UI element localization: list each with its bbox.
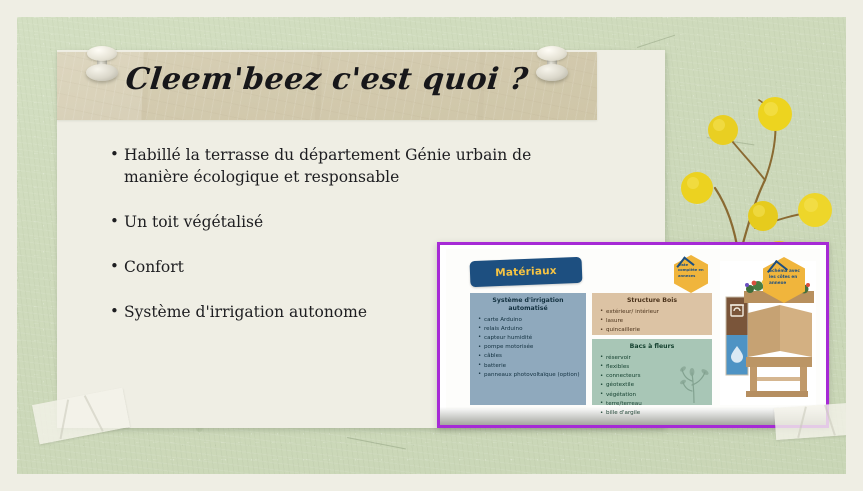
list-item: câbles (484, 352, 581, 361)
column-items: extérieur/ intérieur lasure quincailleri… (597, 308, 707, 336)
pushpin-base (536, 64, 568, 81)
pushpin-head (537, 46, 567, 61)
list-item: extérieur/ intérieur (606, 308, 707, 317)
bullet-marker-icon: • (110, 144, 124, 165)
leaf-decoration-icon (678, 361, 712, 403)
badge-label: Schéma avec les côtes en annexe (769, 268, 801, 286)
materials-title-banner: Matériaux (470, 257, 583, 287)
bullet-marker-icon: • (110, 256, 124, 277)
badge-annex-list: Liste complète en annexes (674, 255, 708, 293)
column-heading: Système d'irrigation automatisé (475, 297, 581, 313)
list-item-label: Habillé la terrasse du département Génie… (124, 144, 580, 188)
badge-label: Liste complète en annexes (678, 263, 705, 279)
materials-title: Matériaux (470, 257, 583, 287)
column-heading: Bacs à fleurs (597, 343, 707, 351)
column-wood-structure: Structure Bois extérieur/ intérieur lasu… (592, 293, 712, 335)
embedded-image-inner: Matériaux Système d'irrigation automatis… (440, 245, 826, 425)
list-item: carte Arduino (484, 316, 581, 325)
list-item: • Habillé la terrasse du département Gén… (110, 144, 580, 188)
tape-crease (84, 395, 103, 431)
bullet-marker-icon: • (110, 301, 124, 322)
list-item: • Un toit végétalisé (110, 211, 580, 233)
pushpin-icon-right (530, 44, 574, 90)
page-title: Cleem'beez c'est quoi ? (55, 62, 599, 97)
column-irrigation: Système d'irrigation automatisé carte Ar… (470, 293, 586, 405)
column-items: carte Arduino relais Arduino capteur hum… (475, 316, 581, 381)
column-heading: Structure Bois (597, 297, 707, 305)
slide-canvas: Cleem'beez c'est quoi ? • Habillé la ter… (0, 0, 863, 491)
tape-crease (824, 405, 835, 436)
list-item: panneaux photovoltaïque (option) (484, 371, 581, 380)
image-bottom-shadow (440, 407, 826, 425)
tape-crease (797, 406, 806, 437)
list-item-label: Un toit végétalisé (124, 211, 580, 233)
list-item: relais Arduino (484, 325, 581, 334)
bullet-marker-icon: • (110, 211, 124, 232)
list-item: pompe motorisée (484, 343, 581, 352)
list-item: batterie (484, 362, 581, 371)
pushpin-base (86, 64, 118, 81)
embedded-materials-image[interactable]: Matériaux Système d'irrigation automatis… (437, 242, 829, 428)
tape-strip-bottom-right (774, 402, 863, 440)
pushpin-head (87, 46, 117, 61)
list-item: quincaillerie (606, 326, 707, 335)
list-item: lasure (606, 317, 707, 326)
badge-annex-drawing: Schéma avec les côtes en annexe (763, 257, 805, 303)
tape-crease (60, 400, 69, 440)
pushpin-icon-left (80, 44, 124, 90)
list-item: capteur humidité (484, 334, 581, 343)
